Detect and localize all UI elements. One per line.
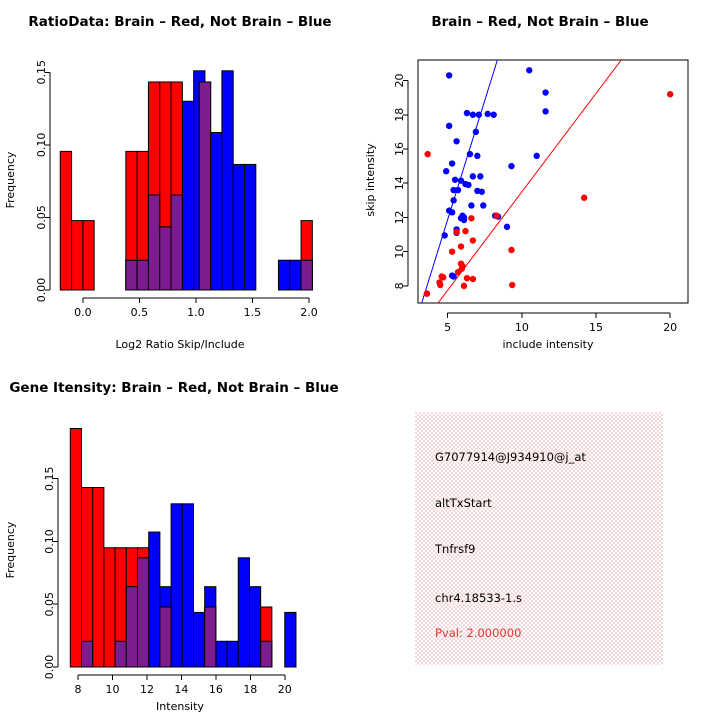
scatter-point <box>474 153 480 159</box>
histogram-bar <box>149 532 160 667</box>
scatter-point <box>449 209 455 215</box>
gene-intensity-bars <box>70 429 296 667</box>
histogram-bar-overlap <box>115 641 126 667</box>
histogram-bar-overlap <box>126 587 137 667</box>
x-tick-label: 14 <box>174 683 188 696</box>
scatter-point <box>461 283 467 289</box>
histogram-bar <box>182 101 193 290</box>
scatter-point <box>464 275 470 281</box>
scatter-point <box>424 151 430 157</box>
histogram-bar <box>211 133 222 291</box>
gene-intensity-ylabel: Frequency <box>4 521 17 578</box>
y-tick-label: 0.05 <box>35 205 48 230</box>
info-line-event-type: altTxStart <box>435 496 492 510</box>
gene-intensity-xlabel: Intensity <box>156 700 204 713</box>
scatter-point <box>493 213 499 219</box>
histogram-bar <box>238 558 249 667</box>
histogram-bar <box>60 151 71 290</box>
x-tick-label: 10 <box>515 321 529 334</box>
scatter-point <box>442 232 448 238</box>
histogram-bar <box>70 429 81 667</box>
scatter-point <box>455 269 461 275</box>
histogram-bar <box>290 260 301 290</box>
histogram-bar <box>227 641 238 667</box>
scatter-point <box>533 153 539 159</box>
histogram-bar <box>82 488 93 667</box>
intensity-scatter-svg: Brain – Red, Not Brain – Blue skip inten… <box>360 0 720 360</box>
scatter-point <box>470 237 476 243</box>
probe-info-panel: G7077914@J934910@j_ataltTxStartTnfrsf9ch… <box>415 412 663 665</box>
intensity-scatter-ylabel: skip intensity <box>364 143 377 217</box>
histogram-bar-overlap <box>137 260 148 290</box>
scatter-point <box>667 91 673 97</box>
histogram-bar-overlap <box>126 260 137 290</box>
scatter-point <box>462 228 468 234</box>
y-tick-label: 0.10 <box>43 529 56 554</box>
y-tick-label: 0.00 <box>43 655 56 680</box>
scatter-point <box>453 138 459 144</box>
scatter-point <box>504 224 510 230</box>
y-tick-label: 0.05 <box>43 592 56 617</box>
scatter-point <box>508 247 514 253</box>
x-tick-label: 15 <box>589 321 603 334</box>
y-tick-label: 0.00 <box>35 278 48 303</box>
scatter-point <box>509 282 515 288</box>
scatter-point <box>461 217 467 223</box>
scatter-point <box>508 163 514 169</box>
info-line-probe-id: G7077914@J934910@j_at <box>435 450 586 464</box>
y-tick-label: 10 <box>393 245 406 259</box>
scatter-point <box>468 215 474 221</box>
gene-intensity-svg: Gene Itensity: Brain – Red, Not Brain – … <box>0 360 360 720</box>
y-tick-label: 8 <box>393 282 406 289</box>
histogram-bar <box>193 612 204 667</box>
histogram-bar <box>249 587 260 667</box>
scatter-point <box>542 108 548 114</box>
histogram-bar-overlap <box>205 607 216 667</box>
histogram-bar <box>72 221 83 290</box>
scatter-point <box>485 111 491 117</box>
scatter-point <box>476 112 482 118</box>
scatter-point <box>581 195 587 201</box>
scatter-point <box>453 229 459 235</box>
histogram-bar <box>222 71 233 290</box>
info-panel-wrapper: G7077914@J934910@j_ataltTxStartTnfrsf9ch… <box>360 360 720 720</box>
figure-canvas: RatioData: Brain – Red, Not Brain – Blue… <box>0 0 720 720</box>
x-tick-label: 16 <box>209 683 223 696</box>
x-tick-label: 20 <box>663 321 677 334</box>
y-tick-label: 12 <box>393 210 406 224</box>
histogram-bar <box>83 221 94 290</box>
y-tick-label: 16 <box>393 142 406 156</box>
scatter-point <box>446 72 452 78</box>
scatter-point <box>480 202 486 208</box>
y-tick-label: 20 <box>393 74 406 88</box>
x-tick-label: 1.5 <box>244 306 262 319</box>
x-tick-label: 0.0 <box>74 306 92 319</box>
histogram-bar <box>93 488 104 667</box>
histogram-bar <box>245 164 256 290</box>
scatter-point <box>450 197 456 203</box>
histogram-bar <box>104 548 115 667</box>
x-tick-label: 10 <box>106 683 120 696</box>
info-line-locus: chr4.18533-1.s <box>435 591 522 605</box>
scatter-point <box>467 151 473 157</box>
ratio-histogram-ylabel: Frequency <box>4 151 17 208</box>
scatter-point <box>542 89 548 95</box>
intensity-scatter-points <box>424 67 674 297</box>
x-tick-label: 0.5 <box>131 306 149 319</box>
gene-intensity-panel: Gene Itensity: Brain – Red, Not Brain – … <box>0 360 360 720</box>
histogram-bar-overlap <box>148 195 159 290</box>
ratio-histogram-title: RatioData: Brain – Red, Not Brain – Blue <box>28 14 331 30</box>
histogram-bar-overlap <box>82 641 93 667</box>
x-tick-label: 5 <box>444 321 451 334</box>
scatter-point <box>477 173 483 179</box>
histogram-bar-overlap <box>199 82 210 290</box>
y-tick-label: 14 <box>393 176 406 190</box>
info-line-pval: Pval: 2.000000 <box>435 626 521 640</box>
scatter-point <box>449 248 455 254</box>
x-tick-label: 1.0 <box>187 306 205 319</box>
histogram-bar-overlap <box>171 195 182 290</box>
scatter-point <box>473 129 479 135</box>
histogram-bar-overlap <box>261 641 272 667</box>
y-tick-label: 0.10 <box>35 133 48 158</box>
scatter-point <box>464 110 470 116</box>
histogram-bar <box>216 641 227 667</box>
scatter-point <box>479 189 485 195</box>
x-tick-label: 12 <box>140 683 154 696</box>
scatter-point <box>490 112 496 118</box>
y-tick-label: 18 <box>393 108 406 122</box>
scatter-point <box>424 290 430 296</box>
y-tick-label: 0.15 <box>43 466 56 491</box>
scatter-point <box>452 177 458 183</box>
histogram-bar <box>278 260 289 290</box>
x-tick-label: 8 <box>75 683 82 696</box>
scatter-point <box>470 276 476 282</box>
ratio-histogram-svg: RatioData: Brain – Red, Not Brain – Blue… <box>0 0 360 360</box>
intensity-scatter-axes: 81012141618205101520 <box>393 74 677 334</box>
histogram-bar <box>171 504 182 667</box>
scatter-point <box>446 123 452 129</box>
histogram-bar-overlap <box>301 260 312 290</box>
intensity-scatter-panel: Brain – Red, Not Brain – Blue skip inten… <box>360 0 720 360</box>
scatter-point <box>455 187 461 193</box>
histogram-bar-overlap <box>160 607 171 667</box>
scatter-point <box>470 173 476 179</box>
ratio-histogram-xlabel: Log2 Ratio Skip/Include <box>115 338 244 351</box>
histogram-bar-overlap <box>160 227 171 290</box>
y-tick-label: 0.15 <box>35 60 48 85</box>
scatter-point <box>449 160 455 166</box>
scatter-point <box>465 182 471 188</box>
x-tick-label: 2.0 <box>300 306 318 319</box>
intensity-scatter-title: Brain – Red, Not Brain – Blue <box>431 14 648 30</box>
intensity-scatter-xlabel: include intensity <box>502 338 594 351</box>
histogram-bar <box>233 164 244 290</box>
x-tick-label: 20 <box>278 683 292 696</box>
scatter-point <box>458 243 464 249</box>
ratio-histogram-bars <box>60 71 312 290</box>
gene-intensity-title: Gene Itensity: Brain – Red, Not Brain – … <box>9 380 338 396</box>
scatter-point <box>443 168 449 174</box>
info-line-gene-symbol: Tnfrsf9 <box>435 542 475 556</box>
scatter-point <box>468 202 474 208</box>
scatter-point <box>440 274 446 280</box>
x-tick-label: 18 <box>243 683 257 696</box>
histogram-bar <box>285 612 296 667</box>
histogram-bar-overlap <box>137 558 148 667</box>
ratio-histogram-panel: RatioData: Brain – Red, Not Brain – Blue… <box>0 0 360 360</box>
scatter-point <box>470 112 476 118</box>
scatter-point <box>526 67 532 73</box>
histogram-bar <box>182 504 193 667</box>
scatter-point <box>436 279 442 285</box>
